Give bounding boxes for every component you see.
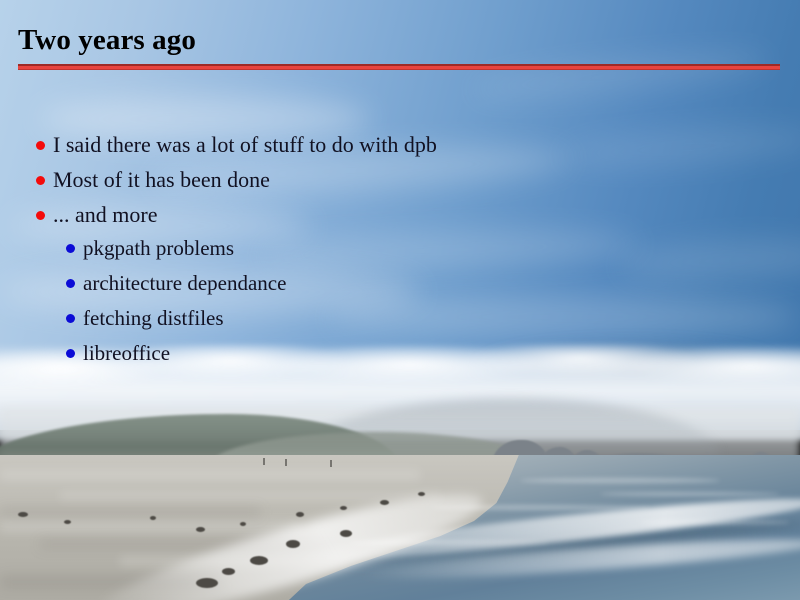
list-item-label: ... and more xyxy=(53,202,157,227)
photo-debris-rock xyxy=(222,568,235,575)
photo-debris-speck xyxy=(296,512,304,517)
photo-debris-speck xyxy=(340,506,347,510)
bullet-dot-icon xyxy=(36,141,45,150)
slide-title: Two years ago xyxy=(18,24,196,57)
title-divider-rule xyxy=(18,64,780,70)
list-item-label: libreoffice xyxy=(83,341,170,365)
photo-debris-rock xyxy=(286,540,300,548)
bullet-dot-icon xyxy=(66,349,75,358)
photo-sea-ripple xyxy=(600,492,780,496)
list-item-label: fetching distfiles xyxy=(83,306,224,330)
background-photo-beach xyxy=(0,0,800,600)
list-item: architecture dependance xyxy=(66,273,286,294)
presentation-slide: Two years ago I said there was a lot of … xyxy=(0,0,800,600)
list-item-label: I said there was a lot of stuff to do wi… xyxy=(53,132,437,157)
bullet-dot-icon xyxy=(36,211,45,220)
photo-sea-ripple xyxy=(520,478,720,483)
photo-debris-speck xyxy=(240,522,246,526)
list-item-label: Most of it has been done xyxy=(53,167,270,192)
list-item-label: architecture dependance xyxy=(83,271,286,295)
photo-beach-figure xyxy=(285,459,287,466)
bullet-dot-icon xyxy=(36,176,45,185)
photo-sand-shadow xyxy=(0,508,260,517)
photo-debris-speck xyxy=(18,512,28,517)
bullet-dot-icon xyxy=(66,279,75,288)
photo-debris-rock xyxy=(340,530,352,537)
photo-debris-rock xyxy=(250,556,268,565)
list-item: fetching distfiles xyxy=(66,308,224,329)
photo-sand-streak xyxy=(0,470,420,480)
bullet-dot-icon xyxy=(66,314,75,323)
list-item: pkgpath problems xyxy=(66,238,234,259)
list-item: I said there was a lot of stuff to do wi… xyxy=(36,134,437,156)
photo-debris-speck xyxy=(418,492,425,496)
photo-beach-figure xyxy=(263,458,265,465)
photo-debris-speck xyxy=(150,516,156,520)
photo-debris-speck xyxy=(196,527,205,532)
list-item: libreoffice xyxy=(66,343,170,364)
photo-cloud-wisp xyxy=(330,296,800,338)
photo-debris-rock xyxy=(196,578,218,588)
bullet-dot-icon xyxy=(66,244,75,253)
list-item-label: pkgpath problems xyxy=(83,236,234,260)
list-item: Most of it has been done xyxy=(36,169,270,191)
photo-debris-speck xyxy=(380,500,389,505)
photo-beach-figure xyxy=(330,460,332,467)
photo-sand-streak xyxy=(60,492,440,500)
photo-sand-streak xyxy=(0,520,300,532)
photo-debris-speck xyxy=(64,520,71,524)
list-item: ... and more xyxy=(36,204,157,226)
